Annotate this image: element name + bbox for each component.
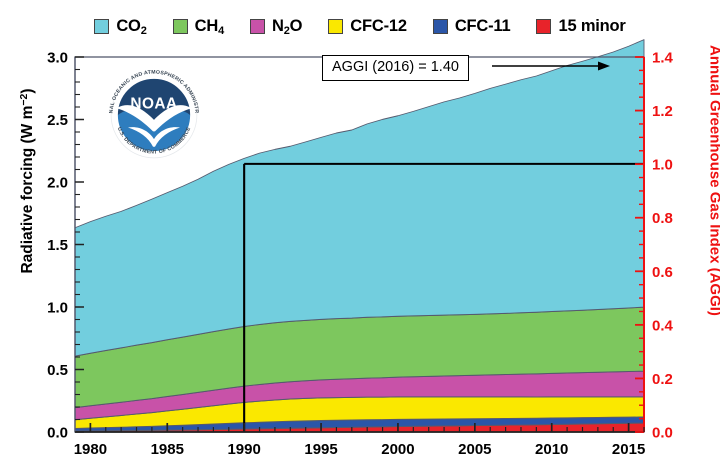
ytick-label: 2.0: [47, 175, 68, 192]
aggi-annotation-box: AGGI (2016) = 1.40: [322, 55, 469, 81]
y2tick-label: 1.2: [652, 103, 673, 120]
xtick-label: 2000: [381, 441, 414, 458]
y2tick-label: 0.8: [652, 210, 673, 227]
ytick-label: 2.5: [47, 112, 68, 129]
y2tick-label: 0.2: [652, 371, 673, 388]
xtick-label: 2010: [535, 441, 568, 458]
y2tick-label: 1.0: [652, 157, 673, 174]
noaa-wordmark: NOAA: [130, 95, 177, 112]
noaa-logo: NATIONAL OCEANIC AND ATMOSPHERIC ADMINIS…: [101, 62, 207, 168]
xtick-label: 1980: [74, 441, 107, 458]
y2tick-label: 1.4: [652, 50, 674, 67]
xtick-label: 1985: [151, 441, 184, 458]
ytick-label: 3.0: [47, 50, 68, 67]
xtick-label: 2015: [612, 441, 645, 458]
ytick-label: 1.0: [47, 300, 68, 317]
xtick-label: 1995: [304, 441, 337, 458]
y2tick-label: 0.6: [652, 264, 673, 281]
aggi-figure: CO2 CH4 N2O CFC-12 CFC-11 15 minor Radia…: [0, 0, 720, 462]
ytick-label: 0.0: [47, 425, 68, 442]
xtick-label: 1990: [227, 441, 260, 458]
ytick-label: 0.5: [47, 362, 68, 379]
y2tick-label: 0.4: [652, 317, 674, 334]
xtick-label: 2005: [458, 441, 491, 458]
y2tick-label: 0.0: [652, 425, 673, 442]
ytick-label: 1.5: [47, 237, 68, 254]
